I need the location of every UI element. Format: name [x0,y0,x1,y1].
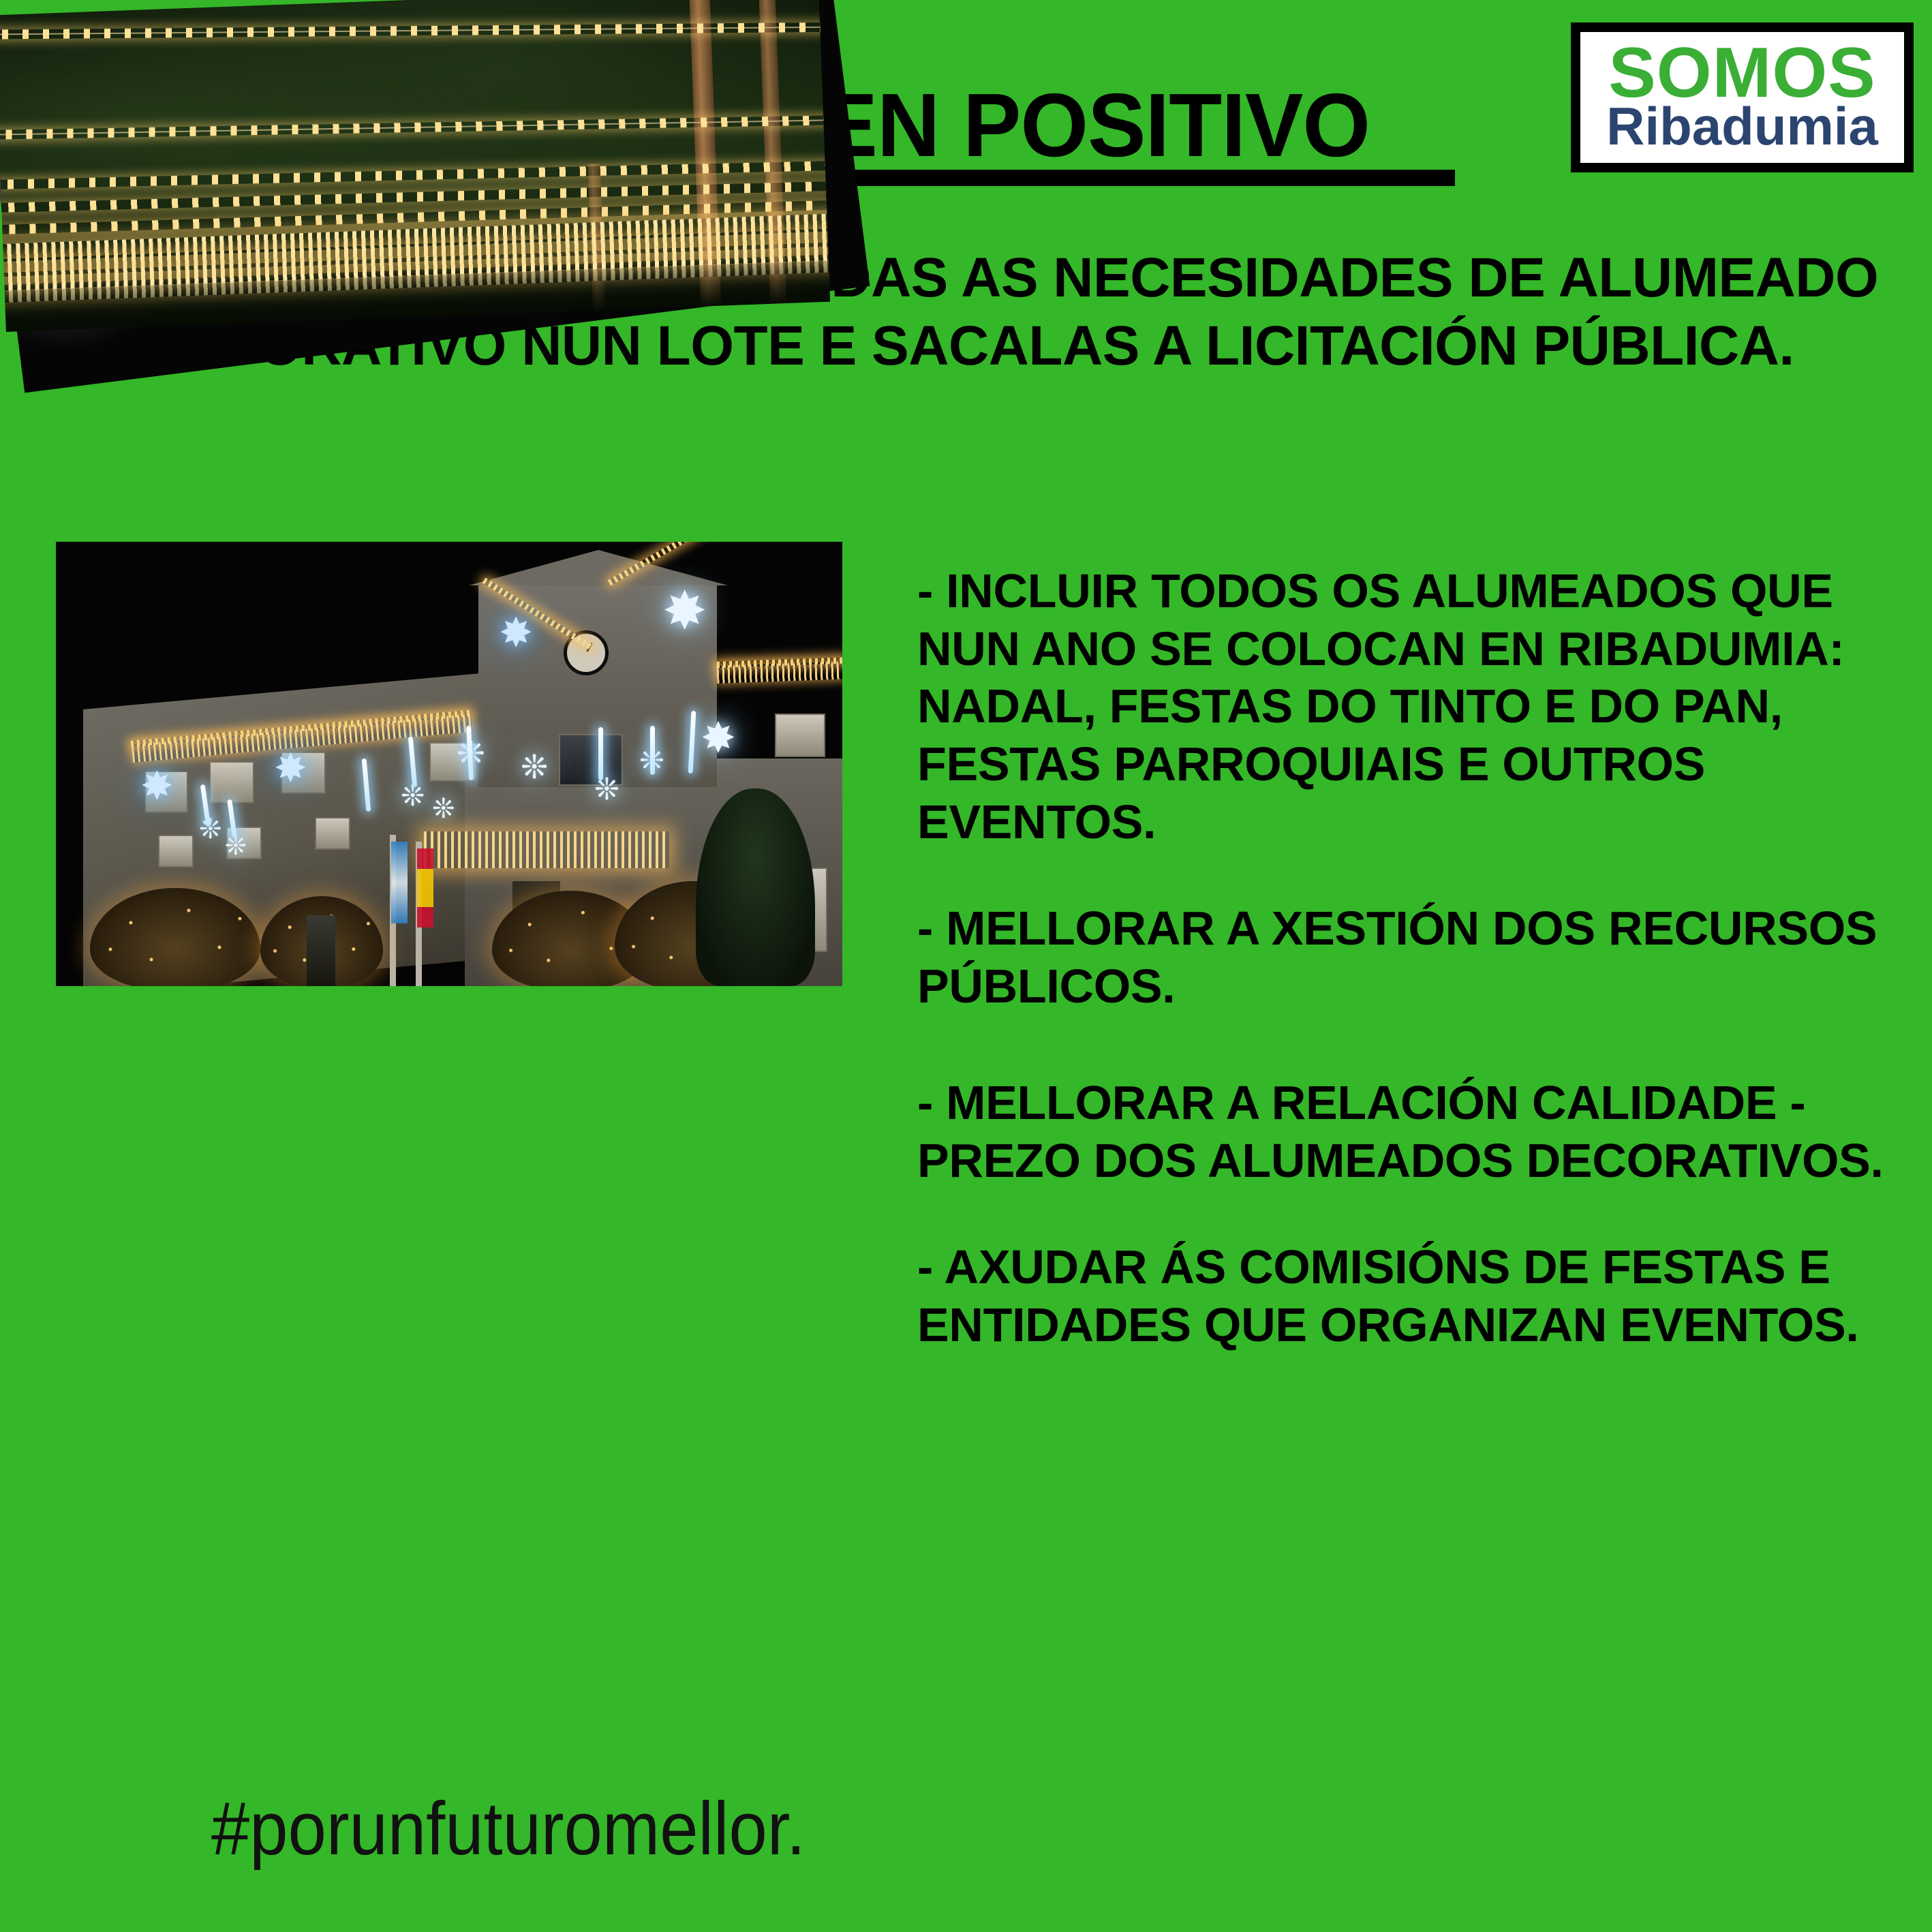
spain-flag [417,848,433,927]
bullet-item-2: - MELLORAR A XESTIÓN DOS RECURSOS PÚBLIC… [917,900,1885,1015]
window [158,835,194,868]
snowflake-light-icon: ❊ [199,816,222,843]
snowflake-light-icon: ❊ [521,752,548,784]
star-light-icon: ✸ [662,584,707,637]
star-light-icon: ✸ [701,718,736,760]
star-light-icon: ✸ [499,613,533,654]
window [315,817,350,850]
galicia-flag [391,842,408,923]
somos-ribadumia-logo: SOMOS Ribadumia [1571,22,1914,172]
bullet-item-3: - MELLORAR A RELACIÓN CALIDADE - PREZO D… [917,1074,1885,1189]
proposal-bullet-list: - INCLUIR TODOS OS ALUMEADOS QUE NUN ANO… [917,562,1885,1354]
photo-townhall-christmas-lights: ✸ ✸ ✸ ✸ ❊ ❊ ❊ ❊ ❊ ❊ ❊ ✸ ❊ [56,542,842,986]
window [209,761,254,803]
window [775,714,825,757]
star-light-icon: ✸ [140,767,174,806]
monument-statue [307,915,335,986]
logo-text-ribadumia: Ribadumia [1606,102,1878,151]
snowflake-light-icon: ❊ [594,775,619,805]
snowflake-light-icon: ❊ [225,833,247,859]
icicle-drop-light [650,726,655,775]
poster-canvas: SOMOS Ribadumia TRABALLAMOS EN POSITIVO … [0,0,1932,1932]
icicle-drop-light [598,727,603,780]
strings-photo-frame [0,0,830,332]
snowflake-light-icon: ❊ [432,795,455,823]
bullet-item-4: - AXUDAR ÁS COMISIÓNS DE FESTAS E ENTIDA… [917,1238,1885,1353]
bullet-item-1: - INCLUIR TODOS OS ALUMEADOS QUE NUN ANO… [917,562,1885,850]
star-light-icon: ✸ [274,749,307,788]
balcony-garland-lights [424,831,669,868]
campaign-hashtag: #porunfuturomellor. [211,1785,806,1872]
